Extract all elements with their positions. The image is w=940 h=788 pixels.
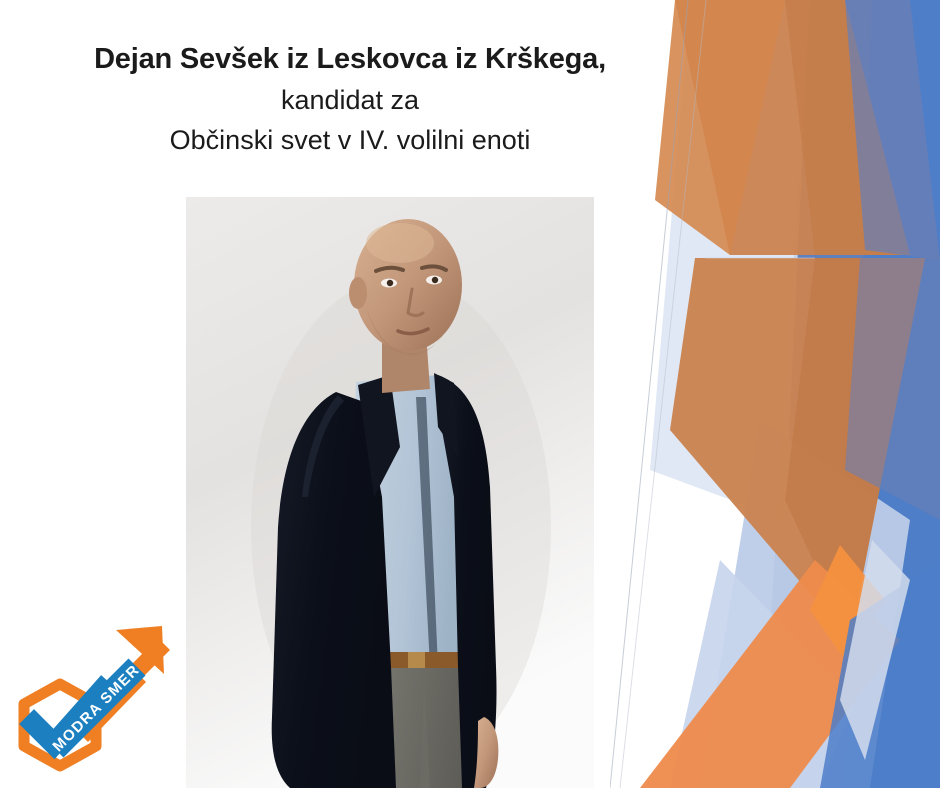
subject-pupil-right [432, 277, 438, 283]
deco-blue-overlay-lower [820, 560, 940, 788]
deco-pale-sliver [840, 540, 910, 760]
subject-crown-highlight [366, 223, 434, 263]
deco-light-blue-wedge [700, 420, 910, 788]
candidate-photo [186, 197, 594, 788]
deco-orange-chevron-upper [675, 0, 910, 255]
deco-orange-chevron-lower-fold [785, 258, 925, 640]
subject-ear [349, 277, 367, 309]
candidate-name-line: Dejan Sevšek iz Leskovca iz Krškega, [0, 40, 700, 79]
deco-blue-overlay-upper [845, 0, 940, 260]
modra-smer-logo[interactable]: MODRA SMER [12, 612, 180, 780]
deco-blue-base [760, 0, 940, 788]
deco-orange-chevron-lower [670, 258, 925, 640]
candidacy-label-line: kandidat za [0, 82, 700, 119]
deco-light-blue-wedge-2 [670, 560, 855, 788]
deco-blue-strong-right [845, 0, 940, 788]
deco-blue-overlay-mid [845, 258, 940, 520]
deco-orange-chevron-upper-fold [785, 0, 910, 255]
subject-pupil-left [387, 280, 393, 286]
deco-orange-bright-diagonal [640, 560, 900, 788]
subject-belt-buckle [408, 652, 425, 668]
headline-block: Dejan Sevšek iz Leskovca iz Krškega, kan… [0, 40, 700, 159]
deco-orange-bright-tip [810, 545, 885, 660]
poster-canvas: Dejan Sevšek iz Leskovca iz Krškega, kan… [0, 0, 940, 788]
office-and-district-line: Občinski svet v IV. volilni enoti [0, 122, 700, 159]
